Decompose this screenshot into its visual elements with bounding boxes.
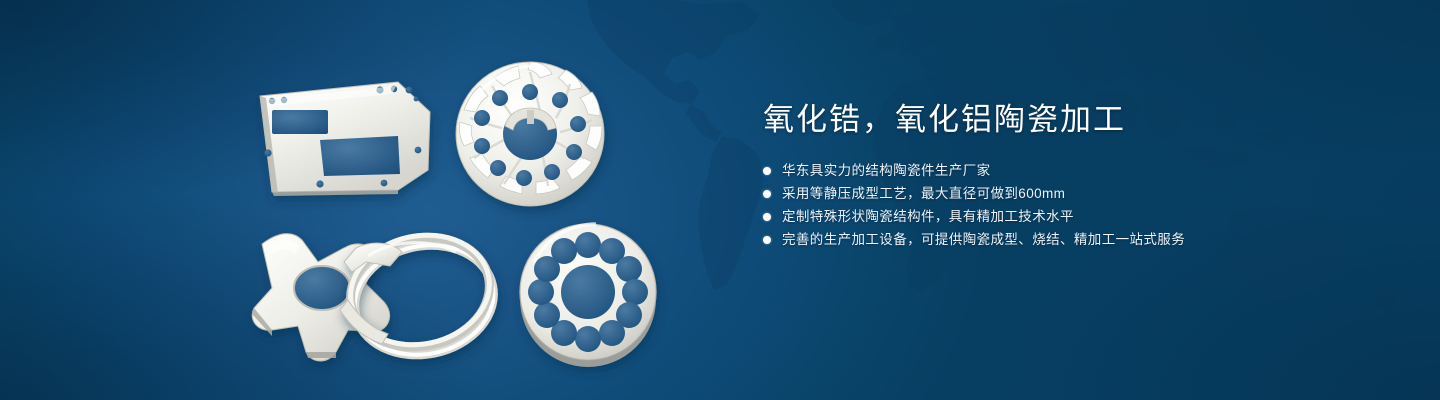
ceramic-products-image bbox=[0, 0, 720, 400]
feature-list-item: 华东具实力的结构陶瓷件生产厂家 bbox=[763, 159, 1383, 182]
bullet-dot-icon bbox=[763, 190, 771, 198]
feature-list-item: 采用等静压成型工艺，最大直径可做到600mm bbox=[763, 182, 1383, 205]
bullet-dot-icon bbox=[763, 236, 771, 244]
ceramic-impeller-disc-part bbox=[456, 62, 604, 206]
hero-banner: 氧化锆，氧化铝陶瓷加工 华东具实力的结构陶瓷件生产厂家 采用等静压成型工艺，最大… bbox=[0, 0, 1440, 400]
bullet-dot-icon bbox=[763, 213, 771, 221]
feature-text: 完善的生产加工设备，可提供陶瓷成型、烧结、精加工一站式服务 bbox=[782, 228, 1185, 251]
feature-text: 华东具实力的结构陶瓷件生产厂家 bbox=[782, 159, 991, 182]
feature-text: 采用等静压成型工艺，最大直径可做到600mm bbox=[782, 182, 1065, 205]
feature-list: 华东具实力的结构陶瓷件生产厂家 采用等静压成型工艺，最大直径可做到600mm 定… bbox=[763, 159, 1383, 251]
bullet-dot-icon bbox=[763, 167, 771, 175]
banner-copy: 氧化锆，氧化铝陶瓷加工 华东具实力的结构陶瓷件生产厂家 采用等静压成型工艺，最大… bbox=[763, 100, 1383, 251]
feature-text: 定制特殊形状陶瓷结构件，具有精加工技术水平 bbox=[782, 205, 1074, 228]
ceramic-valve-plate-part bbox=[520, 224, 656, 367]
feature-list-item: 完善的生产加工设备，可提供陶瓷成型、烧结、精加工一站式服务 bbox=[763, 228, 1383, 251]
ceramic-plate-part bbox=[260, 82, 430, 196]
banner-headline: 氧化锆，氧化铝陶瓷加工 bbox=[763, 100, 1383, 140]
feature-list-item: 定制特殊形状陶瓷结构件，具有精加工技术水平 bbox=[763, 205, 1383, 228]
